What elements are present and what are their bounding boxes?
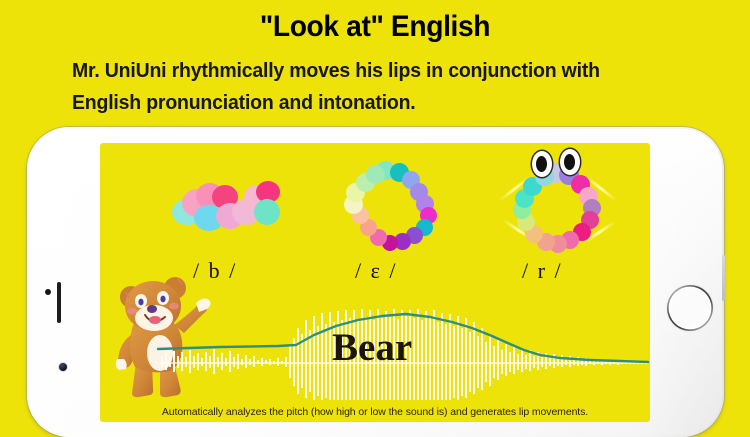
ipa-label-r: / r / <box>522 258 563 284</box>
lip-shape-r[interactable] <box>505 157 610 252</box>
phone-screen: / b / / ɛ / <box>100 143 650 422</box>
page-title: "Look at" English <box>23 10 728 44</box>
lip-shape-epsilon[interactable] <box>340 161 440 251</box>
ambient-light-sensor-icon <box>45 289 51 295</box>
ipa-label-epsilon: / ɛ / <box>355 258 397 284</box>
front-camera-icon <box>59 363 67 371</box>
description-line-1: Mr. UniUni rhythmically moves his lips i… <box>72 55 661 87</box>
lip-shape-b[interactable] <box>172 177 282 237</box>
eye-left-icon <box>532 151 552 177</box>
earpiece-speaker-icon <box>57 282 61 323</box>
eye-right-icon <box>560 149 580 175</box>
word-label-bear: Bear <box>332 325 412 370</box>
screen-caption: Automatically analyzes the pitch (how hi… <box>100 406 650 418</box>
promo-screenshot-root: "Look at" English Mr. UniUni rhythmicall… <box>0 0 750 422</box>
home-button[interactable] <box>667 285 713 331</box>
power-button[interactable] <box>722 255 725 301</box>
description-line-2: English pronunciation and intonation. <box>72 87 661 119</box>
